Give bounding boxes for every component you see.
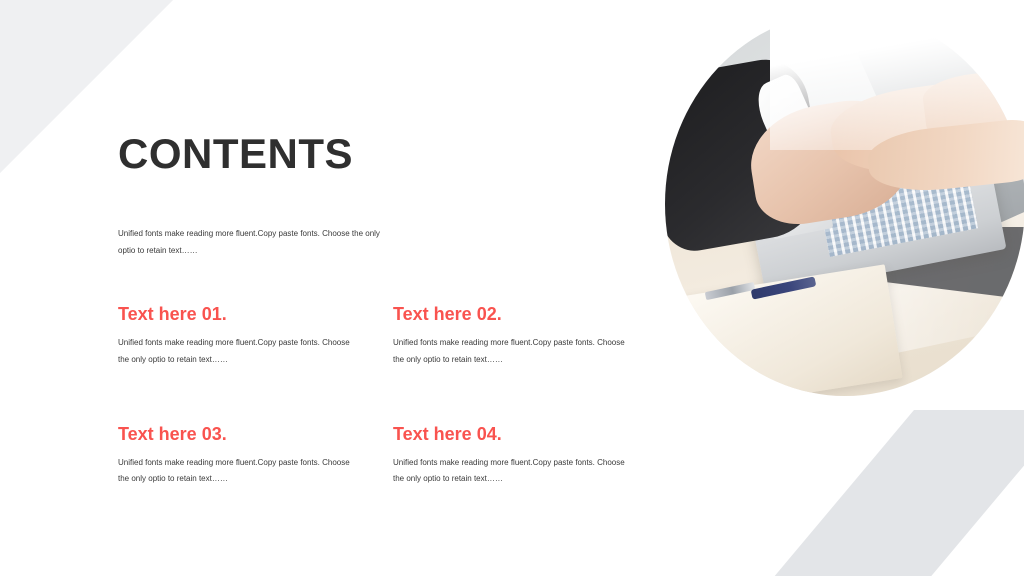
item-body: Unified fonts make reading more fluent.C…	[393, 335, 628, 369]
page-title: CONTENTS	[118, 133, 353, 175]
list-item[interactable]: Text here 03. Unified fonts make reading…	[118, 425, 353, 489]
list-item[interactable]: Text here 02. Unified fonts make reading…	[393, 305, 628, 369]
item-heading: Text here 02.	[393, 305, 628, 323]
item-body: Unified fonts make reading more fluent.C…	[393, 455, 628, 489]
contents-list: Text here 01. Unified fonts make reading…	[118, 305, 638, 488]
item-body: Unified fonts make reading more fluent.C…	[118, 455, 353, 489]
intro-paragraph: Unified fonts make reading more fluent.C…	[118, 226, 388, 260]
handshake-photo	[620, 0, 1024, 410]
item-heading: Text here 03.	[118, 425, 353, 443]
decorative-capsule-top-left	[0, 0, 242, 235]
list-item[interactable]: Text here 01. Unified fonts make reading…	[118, 305, 353, 369]
item-heading: Text here 04.	[393, 425, 628, 443]
item-body: Unified fonts make reading more fluent.C…	[118, 335, 353, 369]
list-item[interactable]: Text here 04. Unified fonts make reading…	[393, 425, 628, 489]
item-heading: Text here 01.	[118, 305, 353, 323]
slide-canvas: CONTENTS Unified fonts make reading more…	[0, 0, 1024, 576]
